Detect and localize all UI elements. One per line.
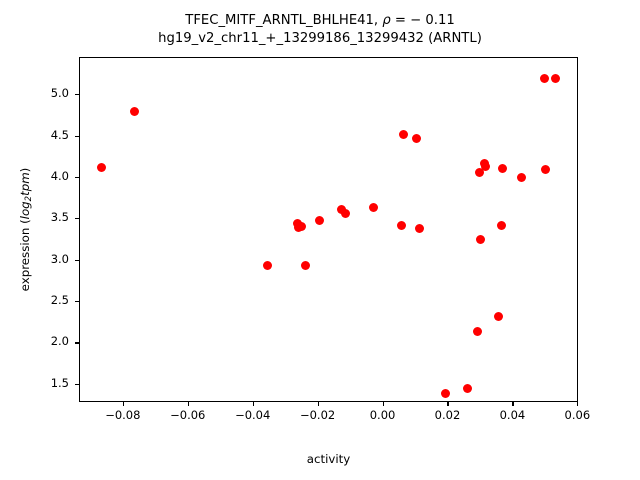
rho-value: = − 0.11 [391, 13, 455, 28]
y-axis-tick [75, 260, 79, 261]
scatter-point [497, 221, 506, 230]
y-axis-tick-label: 4.5 [0, 128, 69, 142]
y-axis-label-prefix: expression ( [18, 219, 32, 291]
x-axis-tick [383, 402, 384, 406]
x-axis-tick-label: −0.08 [88, 408, 158, 422]
y-axis-tick-label: 5.0 [0, 86, 69, 100]
y-axis-label-subscript: 2 [24, 196, 34, 201]
scatter-point [341, 209, 350, 218]
scatter-point [476, 235, 485, 244]
y-axis-tick [75, 384, 79, 385]
scatter-point [369, 203, 378, 212]
x-axis-tick-label: −0.04 [218, 408, 288, 422]
y-axis-tick [75, 177, 79, 178]
scatter-point [315, 216, 324, 225]
x-axis-tick [447, 402, 448, 406]
x-axis-tick-label: −0.06 [153, 408, 223, 422]
y-axis-tick-label: 2.5 [0, 293, 69, 307]
y-axis-tick-label: 3.5 [0, 210, 69, 224]
scatter-point [551, 74, 560, 83]
y-axis-tick [75, 218, 79, 219]
scatter-point [415, 224, 424, 233]
scatter-point [397, 221, 406, 230]
scatter-point [301, 261, 310, 270]
y-axis-tick-label: 2.0 [0, 334, 69, 348]
scatter-point [473, 327, 482, 336]
y-axis-label-unit: tpm [18, 172, 32, 196]
y-axis-tick-label: 4.0 [0, 169, 69, 183]
y-axis-label-math: log [18, 201, 32, 219]
chart-title: TFEC_MITF_ARNTL_BHLHE41, ρ = − 0.11 hg19… [0, 12, 640, 48]
y-axis-tick [75, 342, 79, 343]
y-axis-tick [75, 301, 79, 302]
scatter-point [412, 134, 421, 143]
x-axis-tick [253, 402, 254, 406]
x-axis-tick [577, 402, 578, 406]
x-axis-tick-label: 0.02 [412, 408, 482, 422]
x-axis-tick [123, 402, 124, 406]
scatter-point [130, 107, 139, 116]
chart-title-prefix: TFEC_MITF_ARNTL_BHLHE41, [185, 13, 382, 28]
scatter-point [498, 164, 507, 173]
y-axis-tick [75, 94, 79, 95]
scatter-point [540, 74, 549, 83]
scatter-point [441, 389, 450, 398]
x-axis-tick-label: 0.04 [477, 408, 547, 422]
y-axis-tick [75, 136, 79, 137]
scatter-plot-figure: TFEC_MITF_ARNTL_BHLHE41, ρ = − 0.11 hg19… [0, 0, 640, 480]
scatter-point [481, 162, 490, 171]
x-axis-tick [512, 402, 513, 406]
x-axis-tick [318, 402, 319, 406]
chart-subtitle: hg19_v2_chr11_+_13299186_13299432 (ARNTL… [0, 30, 640, 48]
y-axis-label: expression (log2tpm) [18, 57, 34, 402]
y-axis-label-suffix: ) [18, 168, 32, 173]
x-axis-tick [188, 402, 189, 406]
scatter-point [97, 163, 106, 172]
y-axis-tick-label: 1.5 [0, 376, 69, 390]
plot-axes-frame [79, 57, 578, 402]
chart-title-line-1: TFEC_MITF_ARNTL_BHLHE41, ρ = − 0.11 [0, 12, 640, 30]
scatter-point [297, 222, 306, 231]
scatter-points-layer [80, 58, 577, 401]
x-axis-label: activity [79, 452, 578, 466]
rho-symbol: ρ [382, 13, 390, 28]
x-axis-tick-label: 0.00 [348, 408, 418, 422]
scatter-point [517, 173, 526, 182]
scatter-point [541, 165, 550, 174]
scatter-point [263, 261, 272, 270]
scatter-point [494, 312, 503, 321]
y-axis-tick-label: 3.0 [0, 252, 69, 266]
scatter-point [399, 130, 408, 139]
x-axis-tick-label: −0.02 [283, 408, 353, 422]
x-axis-tick-label: 0.06 [542, 408, 612, 422]
scatter-point [463, 384, 472, 393]
